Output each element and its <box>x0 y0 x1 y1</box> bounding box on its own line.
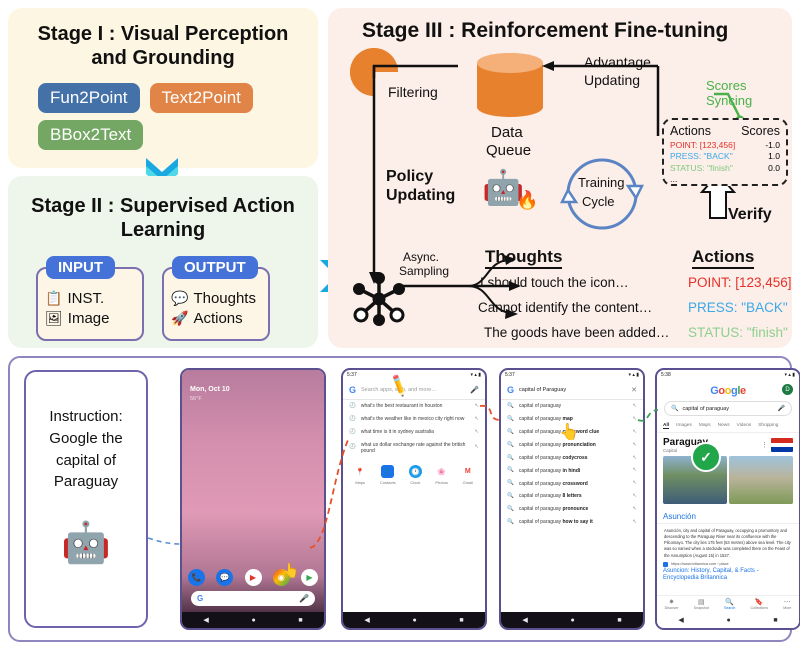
suggestion-text: capital of paraguay pronounce <box>519 506 588 512</box>
knowledge-panel-images <box>657 453 799 507</box>
pill-bbox2text[interactable]: BBox2Text <box>38 120 143 150</box>
arrow-icon[interactable]: ↖ <box>632 480 637 487</box>
phone3-search-bar[interactable]: G capital of Paraguay ✕ <box>501 380 643 400</box>
scores-box-row: POINT: [123,456] -1.0 <box>670 140 780 150</box>
mic-icon[interactable]: 🎤 <box>778 405 785 412</box>
scores-box-score-2: 0.0 <box>768 163 780 173</box>
source-title-link[interactable]: Asuncion: History, Capital, & Facts - En… <box>657 567 799 584</box>
google-logo: Google <box>657 380 799 397</box>
phone4-bottom-nav: ✷Discover ▤Snapshot 🔍Search 🔖Collections… <box>657 595 799 612</box>
scores-box-action-1: PRESS: "BACK" <box>670 151 733 161</box>
nav-snapshot[interactable]: ▤Snapshot <box>694 598 709 610</box>
back-icon[interactable]: ◀ <box>522 616 527 624</box>
phone2-status-icons: ▾ ▴ ▮ <box>470 372 481 378</box>
thought-row-1: Cannot identify the content… <box>478 300 652 315</box>
instruction-line-4: Paraguay <box>54 471 118 493</box>
home-icon[interactable]: ● <box>412 617 416 624</box>
suggestion-text: what time is it in sydney australia <box>361 429 434 435</box>
input-item-inst: 📋 INST. <box>38 290 142 307</box>
phone2-navbar: ◀ ● ■ <box>343 612 485 628</box>
suggestion-text: what us dollar exchange rate against the… <box>361 442 470 455</box>
instruction-line-1: Instruction: <box>49 406 122 428</box>
phone-screen-results: 5:38 ▾ ▴ ▮ Google D 🔍 capital of paragua… <box>655 368 800 630</box>
close-icon[interactable]: ✕ <box>631 386 637 394</box>
home-icon[interactable]: ● <box>251 617 255 624</box>
home-search-bar[interactable]: G 🎤 <box>191 591 315 606</box>
action-row-1: PRESS: "BACK" <box>688 300 788 315</box>
output-item-thoughts-label: Thoughts <box>193 290 256 307</box>
training-label-line1: Training <box>578 175 624 190</box>
app-label: Contacts <box>380 480 396 485</box>
google-g-icon: G <box>197 594 203 603</box>
phone2-time: 5:37 <box>347 372 357 378</box>
phone3-statusbar: 5:37 ▾ ▴ ▮ <box>501 370 643 380</box>
suggestion-text: capital of paraguay how to say it <box>519 519 593 525</box>
instruction-line-3: capital of <box>56 450 116 472</box>
phone-screen-search-start: 5:37 ▾ ▴ ▮ G Search apps, web, and more.… <box>341 368 487 630</box>
tab-videos[interactable]: Videos <box>737 423 752 429</box>
arrow-icon[interactable]: ↖ <box>474 444 479 451</box>
advantage-label-line2: Updating <box>584 72 640 89</box>
paraguay-flag-icon <box>771 438 793 452</box>
home-temp-label: 56°F <box>190 396 202 402</box>
nav-discover[interactable]: ✷Discover <box>665 598 679 610</box>
nav-more[interactable]: ⋯More <box>783 598 791 610</box>
back-icon[interactable]: ◀ <box>678 616 683 624</box>
knowledge-panel-answer[interactable]: Asunción <box>657 507 799 523</box>
home-icon[interactable]: ● <box>570 617 574 624</box>
scores-box-header: Actions Scores <box>670 124 780 138</box>
app-contacts[interactable]: 👤Contacts <box>380 465 396 485</box>
clock-icon: 🕘 <box>349 403 356 410</box>
output-item-actions-label: Actions <box>193 310 242 327</box>
app-gmail[interactable]: MGmail <box>461 465 474 485</box>
back-icon[interactable]: ◀ <box>364 616 369 624</box>
scores-box-col-scores: Scores <box>741 124 780 138</box>
input-box: INPUT 📋 INST. 🖼 Image <box>36 267 144 341</box>
neural-network-node-icon <box>352 272 406 326</box>
phone4-status-icons: ▾ ▴ ▮ <box>784 372 795 378</box>
arrow-icon[interactable]: ↖ <box>632 442 637 449</box>
pill-text2point[interactable]: Text2Point <box>150 83 253 113</box>
database-cylinder-icon <box>474 52 546 118</box>
youtube-icon[interactable]: ▶ <box>245 569 262 586</box>
app-photos[interactable]: 🌸Photos <box>435 465 448 485</box>
scores-box-score-0: -1.0 <box>765 140 780 150</box>
phone3-time: 5:37 <box>505 372 515 378</box>
arrow-icon[interactable]: ↖ <box>632 429 637 436</box>
phone2-statusbar: 5:37 ▾ ▴ ▮ <box>343 370 485 380</box>
stage-2-io-wrapper: INPUT 📋 INST. 🖼 Image OUTPUT 💬 Thoughts … <box>8 267 318 341</box>
pill-fun2point[interactable]: Fun2Point <box>38 83 140 113</box>
suggestion-item[interactable]: 🕘what time is it in sydney australia↖ <box>343 426 485 439</box>
search-icon: 🔍 <box>507 467 514 474</box>
search-icon: 🔍 <box>507 519 514 526</box>
async-label-line2: Sampling <box>399 264 449 278</box>
arrow-icon[interactable]: ↖ <box>632 455 637 462</box>
arrow-icon[interactable]: ↖ <box>632 493 637 500</box>
phone4-result-tabs: All Images Maps News Videos Shopping <box>657 420 799 433</box>
clock-icon: 🕘 <box>349 416 356 423</box>
speech-bubbles-icon: 💬 <box>171 291 188 305</box>
image-icon: 🖼 <box>45 311 63 325</box>
flame-icon: 🔥 <box>516 190 538 211</box>
suggestion-item[interactable]: 🕘what's the best restaurant in houston↖ <box>343 400 485 413</box>
scores-box: Actions Scores POINT: [123,456] -1.0 PRE… <box>662 118 788 186</box>
source-url: https://www.britannica.com › place <box>671 562 729 566</box>
nav-label: Snapshot <box>694 606 709 610</box>
input-header: INPUT <box>46 256 115 279</box>
instruction-line-2: Google the <box>49 428 122 450</box>
search-icon: 🔍 <box>507 429 514 436</box>
mic-icon[interactable]: 🎤 <box>470 386 479 394</box>
suggestion-text: capital of paraguay codycross <box>519 455 588 461</box>
queue-label: Queue <box>486 142 531 160</box>
suggestion-text: capital of paraguay crossword <box>519 481 588 487</box>
suggestion-item[interactable]: 🔍capital of paraguay pronounce↖ <box>501 503 643 516</box>
nav-label: Search <box>724 606 735 610</box>
suggestion-item[interactable]: 🔍capital of paraguay how to say it↖ <box>501 516 643 529</box>
thought-row-2: The goods have been added… <box>484 325 669 340</box>
home-date-label: Mon, Oct 10 <box>190 386 230 393</box>
phone4-time: 5:38 <box>661 372 671 378</box>
app-label: Clock <box>410 480 420 485</box>
tap-pointer-icon: 👆 <box>559 422 579 442</box>
search-icon: 🔍 <box>507 493 514 500</box>
phone4-search-input[interactable]: capital of paraguay <box>682 406 773 412</box>
nav-search[interactable]: 🔍Search <box>724 598 735 610</box>
recents-icon[interactable]: ■ <box>617 617 621 624</box>
instruction-card: Instruction: Google the capital of Parag… <box>24 370 148 628</box>
tab-all[interactable]: All <box>663 423 669 429</box>
search-icon: 🔍 <box>671 405 678 412</box>
phone2-apps-row: 📍Maps 👤Contacts 🕐Clock 🌸Photos MGmail <box>343 457 485 487</box>
input-item-image: 🖼 Image <box>38 310 142 327</box>
phone2-search-input[interactable]: Search apps, web, and more... <box>361 387 465 393</box>
suggestion-item[interactable]: 🕘what us dollar exchange rate against th… <box>343 439 485 458</box>
verify-label: Verify <box>728 206 772 225</box>
stage-1-card: Stage I : Visual Perception and Groundin… <box>8 8 318 168</box>
bottom-panel: Instruction: Google the capital of Parag… <box>8 356 792 642</box>
favicon-icon <box>663 562 668 567</box>
async-label-line1: Async. <box>403 250 439 264</box>
action-row-0: POINT: [123,456] <box>688 275 792 290</box>
recents-icon[interactable]: ■ <box>298 617 302 624</box>
suggestion-item[interactable]: 🔍capital of paraguay↖ <box>501 400 643 413</box>
phone3-suggestion-list: 🔍capital of paraguay↖🔍capital of paragua… <box>501 400 643 529</box>
tab-news[interactable]: News <box>718 423 730 429</box>
input-item-inst-label: INST. <box>67 290 104 307</box>
app-label: Gmail <box>463 480 473 485</box>
robot-icon: 🤖 <box>61 519 111 566</box>
stage-1-pill-row-2: BBox2Text <box>8 120 318 150</box>
stage-3-title: Stage III : Reinforcement Fine-tuning <box>338 18 782 44</box>
suggestion-item[interactable]: 🔍capital of paraguay crossword↖ <box>501 477 643 490</box>
output-item-thoughts: 💬 Thoughts <box>164 290 268 307</box>
scores-box-action-0: POINT: [123,456] <box>670 140 735 150</box>
collections-icon: 🔖 <box>755 598 764 606</box>
knowledge-panel-body: Asunción, city and capital of Paraguay, … <box>657 523 799 559</box>
suggestion-item[interactable]: 🔍capital of paraguay codycross↖ <box>501 452 643 465</box>
output-box: OUTPUT 💬 Thoughts 🚀 Actions <box>162 267 270 341</box>
gmail-icon: M <box>461 465 474 478</box>
scores-box-score-1: 1.0 <box>768 151 780 161</box>
nav-label: Discover <box>665 606 679 610</box>
phone-screen-home: 5:37 ▾ ▴ ▮ Mon, Oct 10 56°F 📞 💬 ▶ ◉ ▶ G … <box>180 368 326 630</box>
output-header: OUTPUT <box>172 256 258 279</box>
document-icon: 📋 <box>45 291 62 305</box>
stage-2-card: Stage II : Supervised Action Learning IN… <box>8 176 318 348</box>
phone1-navbar: ◀ ● ■ <box>182 612 324 628</box>
recents-icon[interactable]: ■ <box>773 617 777 624</box>
nav-collections[interactable]: 🔖Collections <box>751 598 769 610</box>
policy-label-line2: Updating <box>386 187 455 206</box>
phone3-status-icons: ▾ ▴ ▮ <box>628 372 639 378</box>
scores-box-row: STATUS: "finish" 0.0 <box>670 163 780 173</box>
home-icon[interactable]: ● <box>726 617 730 624</box>
maps-icon: 📍 <box>354 465 367 478</box>
photos-icon: 🌸 <box>435 465 448 478</box>
suggestion-text: capital of paraguay in hindi <box>519 468 580 474</box>
recents-icon[interactable]: ■ <box>459 617 463 624</box>
output-item-actions: 🚀 Actions <box>164 310 268 327</box>
scores-box-action-2: STATUS: "finish" <box>670 163 733 173</box>
phone3-search-input[interactable]: capital of Paraguay <box>519 387 626 393</box>
nav-label: Collections <box>751 606 769 610</box>
suggestion-text: what's the weather like in mexico city r… <box>361 416 465 422</box>
search-icon: 🔍 <box>507 480 514 487</box>
suggestion-item[interactable]: 🔍capital of paraguay 8 letters↖ <box>501 490 643 503</box>
mic-icon[interactable]: 🎤 <box>299 594 309 603</box>
tab-shopping[interactable]: Shopping <box>758 423 778 429</box>
play-store-icon[interactable]: ▶ <box>301 569 318 586</box>
advantage-label-line1: Advantage <box>584 54 651 71</box>
search-icon: 🔍 <box>507 455 514 462</box>
scores-sync-label-line2: Syncing <box>706 93 752 108</box>
back-icon[interactable]: ◀ <box>203 616 208 624</box>
search-icon: 🔍 <box>725 598 734 606</box>
thought-row-0: I should touch the icon… <box>480 275 629 290</box>
messages-icon[interactable]: 💬 <box>216 569 233 586</box>
clock-icon: 🕘 <box>349 429 356 436</box>
tab-maps[interactable]: Maps <box>699 423 711 429</box>
phone4-search-bar[interactable]: 🔍 capital of paraguay 🎤 <box>664 401 792 416</box>
input-item-image-label: Image <box>68 310 110 327</box>
success-check-icon: ✓ <box>691 442 721 472</box>
arrow-icon[interactable]: ↖ <box>474 416 479 423</box>
phone-icon[interactable]: 📞 <box>188 569 205 586</box>
suggestion-text: capital of paraguay <box>519 403 561 409</box>
phone2-search-bar[interactable]: G Search apps, web, and more... 🎤 <box>343 380 485 400</box>
policy-label-line1: Policy <box>386 168 433 187</box>
tab-images[interactable]: Images <box>676 423 692 429</box>
contacts-icon: 👤 <box>381 465 394 478</box>
arrow-icon[interactable]: ↖ <box>474 429 479 436</box>
filtering-label: Filtering <box>388 84 438 101</box>
avatar[interactable]: D <box>782 384 793 395</box>
search-icon: 🔍 <box>507 403 514 410</box>
scores-box-col-actions: Actions <box>670 124 711 138</box>
phone4-statusbar: 5:38 ▾ ▴ ▮ <box>657 370 799 380</box>
scores-box-row: PRESS: "BACK" 1.0 <box>670 151 780 161</box>
phone3-navbar: ◀ ● ■ <box>501 612 643 628</box>
app-maps[interactable]: 📍Maps <box>354 465 367 485</box>
more-icon: ⋯ <box>784 598 791 606</box>
rocket-icon: 🚀 <box>171 311 188 325</box>
tap-pointer-icon: 👆 <box>282 562 299 579</box>
suggestion-text: capital of paraguay 8 letters <box>519 493 582 499</box>
suggestion-text: what's the best restaurant in houston <box>361 403 443 409</box>
app-label: Maps <box>355 480 365 485</box>
search-icon: 🔍 <box>507 506 514 513</box>
google-g-icon: G <box>507 385 514 395</box>
clock-icon: 🕐 <box>409 465 422 478</box>
app-clock[interactable]: 🕐Clock <box>409 465 422 485</box>
arrow-icon[interactable]: ↖ <box>632 506 637 513</box>
stage-2-title: Stage II : Supervised Action Learning <box>18 194 308 243</box>
data-label: Data <box>491 124 523 142</box>
phone4-navbar: ◀ ● ■ <box>657 612 799 628</box>
search-icon: 🔍 <box>507 442 514 449</box>
arrow-icon[interactable]: ↖ <box>632 403 637 410</box>
scores-sync-label-line1: Scores <box>706 78 746 93</box>
stage-1-pill-row-1: Fun2Point Text2Point <box>8 83 318 113</box>
discover-icon: ✷ <box>669 598 675 606</box>
stage-1-title: Stage I : Visual Perception and Groundin… <box>18 22 308 71</box>
arrow-icon[interactable]: ↖ <box>632 416 637 423</box>
app-label: Photos <box>435 480 447 485</box>
nav-label: More <box>783 606 791 610</box>
arrow-icon[interactable]: ↖ <box>632 519 637 526</box>
search-icon: 🔍 <box>507 416 514 423</box>
thoughts-header: Thoughts <box>485 247 562 269</box>
actions-header: Actions <box>692 247 754 269</box>
building-photo[interactable] <box>729 456 793 504</box>
snapshot-icon: ▤ <box>698 598 705 606</box>
suggestion-item[interactable]: 🕘what's the weather like in mexico city … <box>343 413 485 426</box>
clock-icon: 🕘 <box>349 444 356 451</box>
arrow-icon[interactable]: ↖ <box>632 467 637 474</box>
home-wallpaper <box>182 370 324 628</box>
google-g-icon: G <box>349 385 356 395</box>
suggestion-item[interactable]: 🔍capital of paraguay in hindi↖ <box>501 464 643 477</box>
arrow-icon[interactable]: ↖ <box>474 403 479 410</box>
phone-screen-suggestions: 5:37 ▾ ▴ ▮ G capital of Paraguay ✕ 🔍capi… <box>499 368 645 630</box>
suggestion-text: capital of paraguay pronunciation <box>519 442 596 448</box>
overflow-menu-icon[interactable]: ⋮ <box>761 441 768 449</box>
training-label-line2: Cycle <box>582 194 615 209</box>
scores-box-ellipsis: ... <box>670 174 780 184</box>
action-row-2: STATUS: "finish" <box>688 325 788 340</box>
